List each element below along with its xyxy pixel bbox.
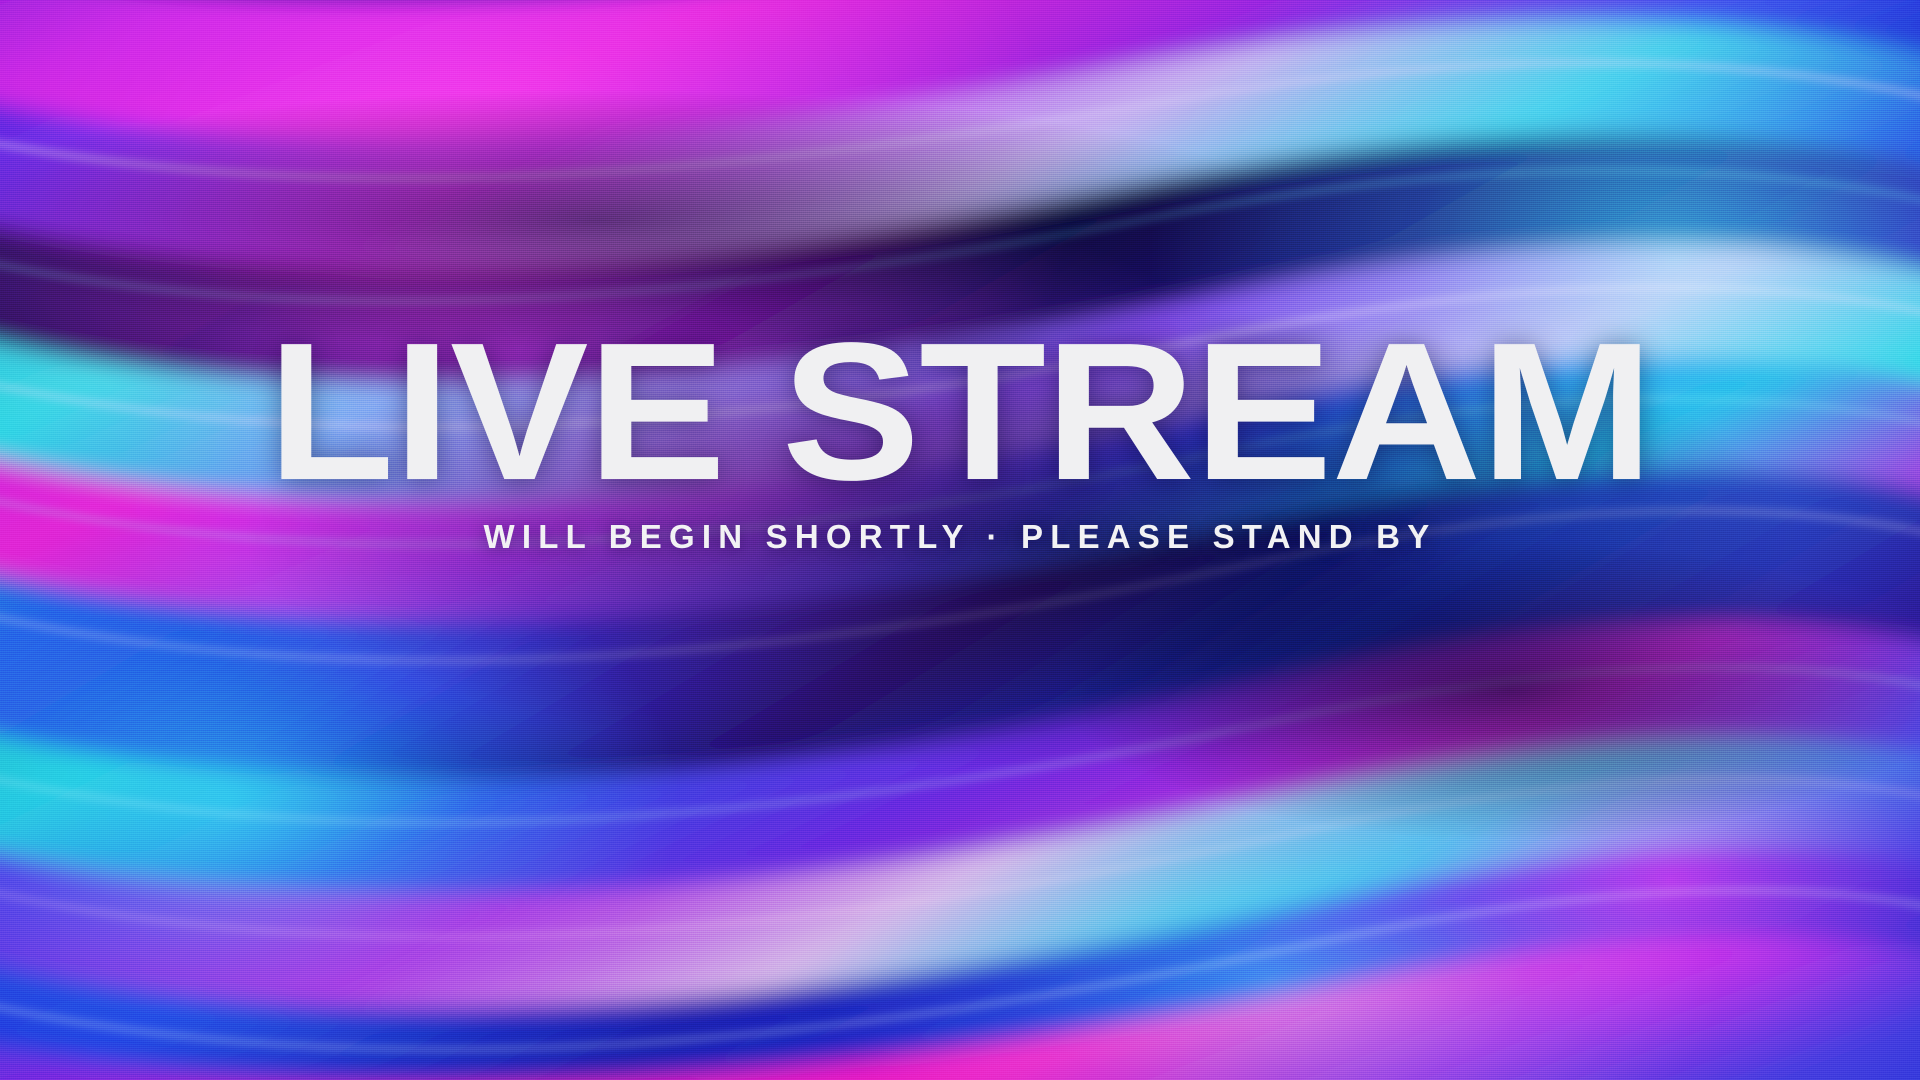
livestream-standby-slate: LIVE STREAM WILL BEGIN SHORTLY · PLEASE …: [0, 0, 1920, 1080]
background-artwork: [0, 0, 1920, 1080]
iridescent-wave-graphic: [0, 0, 1920, 1080]
